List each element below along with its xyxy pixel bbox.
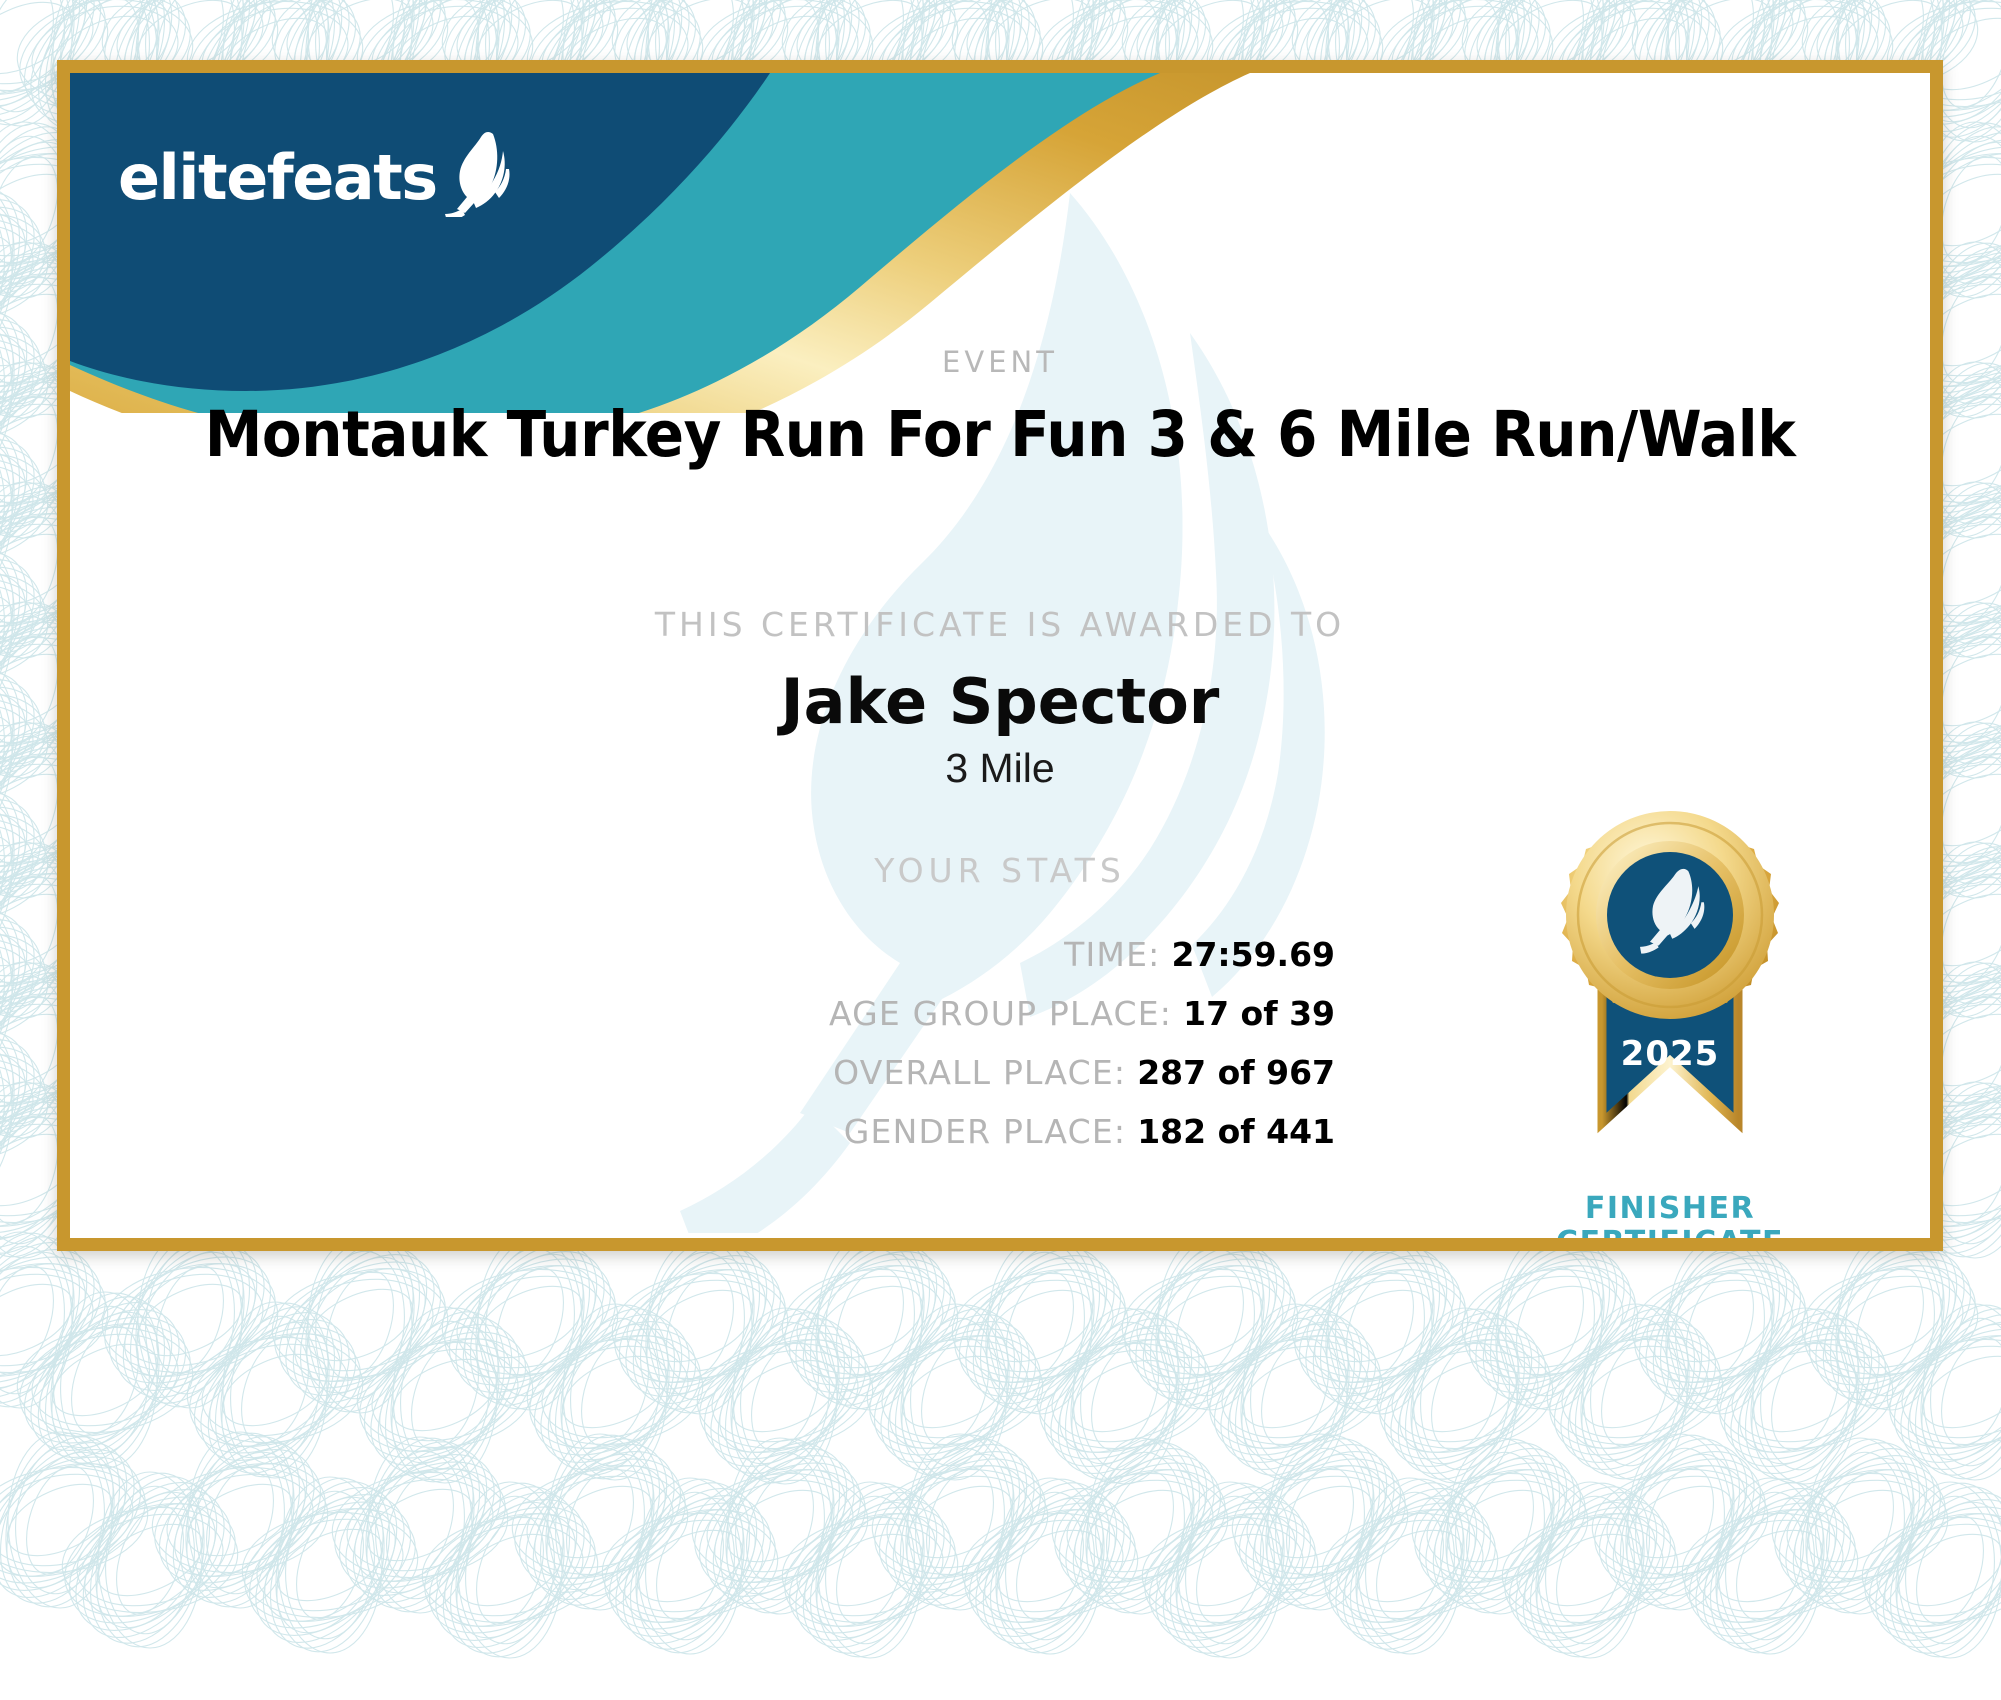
- recipient-name: Jake Spector: [70, 665, 1930, 738]
- stat-key: GENDER PLACE:: [844, 1112, 1126, 1151]
- stat-value: 287 of 967: [1137, 1053, 1335, 1092]
- stat-value: 27:59.69: [1171, 935, 1335, 974]
- seal-year: 2025: [1621, 1034, 1720, 1074]
- awarded-to-label: THIS CERTIFICATE IS AWARDED TO: [70, 605, 1930, 644]
- stat-row-time: TIME: 27:59.69: [70, 935, 1335, 974]
- seal-caption-line-2: CERTIFICATE: [1470, 1226, 1870, 1238]
- seal-caption: FINISHER CERTIFICATE: [1470, 1192, 1870, 1238]
- certificate-page: elitefeats EVENT Montauk Turkey Run For …: [0, 0, 2001, 1700]
- award-seal-icon: 2025: [1540, 793, 1800, 1183]
- event-label: EVENT: [70, 345, 1930, 379]
- stat-key: AGE GROUP PLACE:: [829, 994, 1172, 1033]
- stat-row-gender-place: GENDER PLACE: 182 of 441: [70, 1112, 1335, 1151]
- stat-row-age-group-place: AGE GROUP PLACE: 17 of 39: [70, 994, 1335, 1033]
- stats-table: TIME: 27:59.69 AGE GROUP PLACE: 17 of 39…: [70, 935, 1335, 1151]
- certificate-gold-frame: elitefeats EVENT Montauk Turkey Run For …: [57, 60, 1943, 1251]
- finisher-seal: 2025 FINISHER CERTIFICATE: [1470, 793, 1870, 1238]
- seal-caption-line-1: FINISHER: [1470, 1192, 1870, 1226]
- stat-key: OVERALL PLACE:: [833, 1053, 1126, 1092]
- stat-value: 182 of 441: [1137, 1112, 1335, 1151]
- certificate-content: EVENT Montauk Turkey Run For Fun 3 & 6 M…: [70, 73, 1930, 1238]
- stat-value: 17 of 39: [1183, 994, 1335, 1033]
- stat-key: TIME:: [1064, 935, 1160, 974]
- recipient-distance: 3 Mile: [70, 745, 1930, 792]
- event-title: Montauk Turkey Run For Fun 3 & 6 Mile Ru…: [144, 398, 1855, 471]
- stat-row-overall-place: OVERALL PLACE: 287 of 967: [70, 1053, 1335, 1092]
